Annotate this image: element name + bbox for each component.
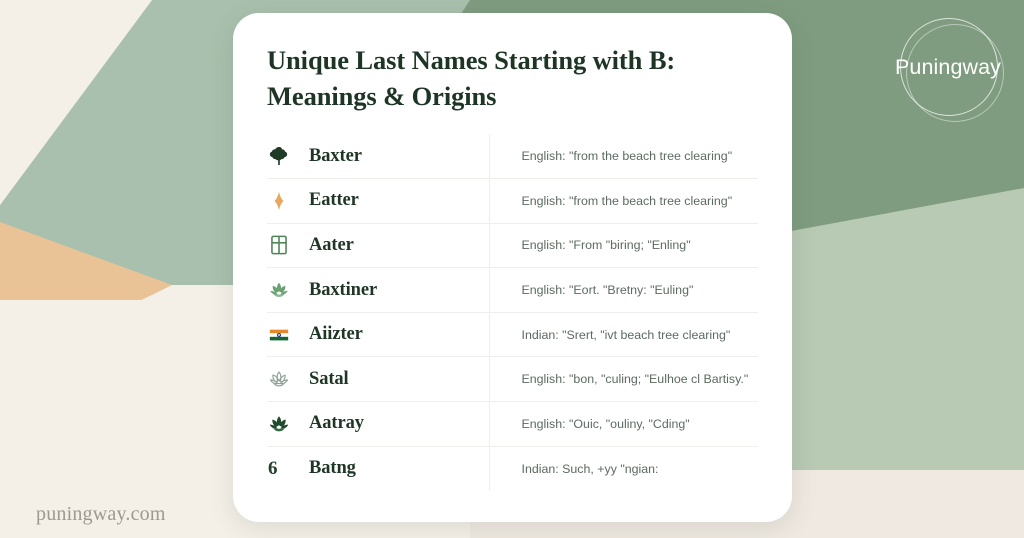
row-icon-cell <box>267 268 309 313</box>
row-icon-cell <box>267 402 309 447</box>
page-title: Unique Last Names Starting with B: Meani… <box>267 43 758 114</box>
surname-label: Eatter <box>309 179 489 224</box>
table-row: SatalEnglish: "bon, "culing; "Eulhoe cl … <box>267 357 758 402</box>
surname-label: Aater <box>309 223 489 268</box>
table-row: AatrayEnglish: "Ouic, "ouliny, "Cding" <box>267 402 758 447</box>
table-row: EatterEnglish: "from the beach tree clea… <box>267 179 758 224</box>
meaning-origin-text: English: "from the beach tree clearing" <box>489 179 758 224</box>
table-row: AaterEnglish: "From "biring; "Enling" <box>267 223 758 268</box>
meaning-origin-text: Indian: "Srert, "ivt beach tree clearing… <box>489 312 758 357</box>
meaning-origin-text: English: "from the beach tree clearing" <box>489 134 758 179</box>
surname-label: Aiizter <box>309 312 489 357</box>
surname-label: Batng <box>309 446 489 491</box>
surname-label: Baxter <box>309 134 489 179</box>
meaning-origin-text: English: "From "biring; "Enling" <box>489 223 758 268</box>
name-meanings-table: BaxterEnglish: "from the beach tree clea… <box>267 134 758 491</box>
content-card: Unique Last Names Starting with B: Meani… <box>233 13 792 522</box>
surname-label: Aatray <box>309 402 489 447</box>
table-row: AiizterIndian: "Srert, "ivt beach tree c… <box>267 312 758 357</box>
sparkle-diamond-icon <box>268 190 290 212</box>
brand-logo: Puningway <box>878 12 1018 122</box>
meaning-origin-text: Indian: Such, +yy "ngian: <box>489 446 758 491</box>
lotus-icon <box>268 279 290 301</box>
row-icon-cell <box>267 134 309 179</box>
surname-label: Baxtiner <box>309 268 489 313</box>
row-icon-cell <box>267 179 309 224</box>
table-row: 6BatngIndian: Such, +yy "ngian: <box>267 446 758 491</box>
table-row: BaxterEnglish: "from the beach tree clea… <box>267 134 758 179</box>
window-grid-icon <box>268 234 290 256</box>
row-icon-cell <box>267 223 309 268</box>
lotus-outline-icon <box>268 368 290 390</box>
name-meanings-table-body: BaxterEnglish: "from the beach tree clea… <box>267 134 758 491</box>
meaning-origin-text: English: "Ouic, "ouliny, "Cding" <box>489 402 758 447</box>
lotus-dark-icon <box>268 413 290 435</box>
surname-label: Satal <box>309 357 489 402</box>
row-icon-cell: 6 <box>267 446 309 491</box>
row-icon-cell <box>267 357 309 402</box>
tree-icon <box>268 145 290 167</box>
table-row: BaxtinerEnglish: "Eort. "Bretny: "Euling… <box>267 268 758 313</box>
meaning-origin-text: English: "bon, "culing; "Eulhoe cl Barti… <box>489 357 758 402</box>
meaning-origin-text: English: "Eort. "Bretny: "Euling" <box>489 268 758 313</box>
india-flag-icon <box>268 324 290 346</box>
site-watermark: puningway.com <box>36 503 166 526</box>
numeral-six-icon: 6 <box>268 458 290 480</box>
brand-name: Puningway <box>895 55 1001 80</box>
row-icon-cell <box>267 312 309 357</box>
